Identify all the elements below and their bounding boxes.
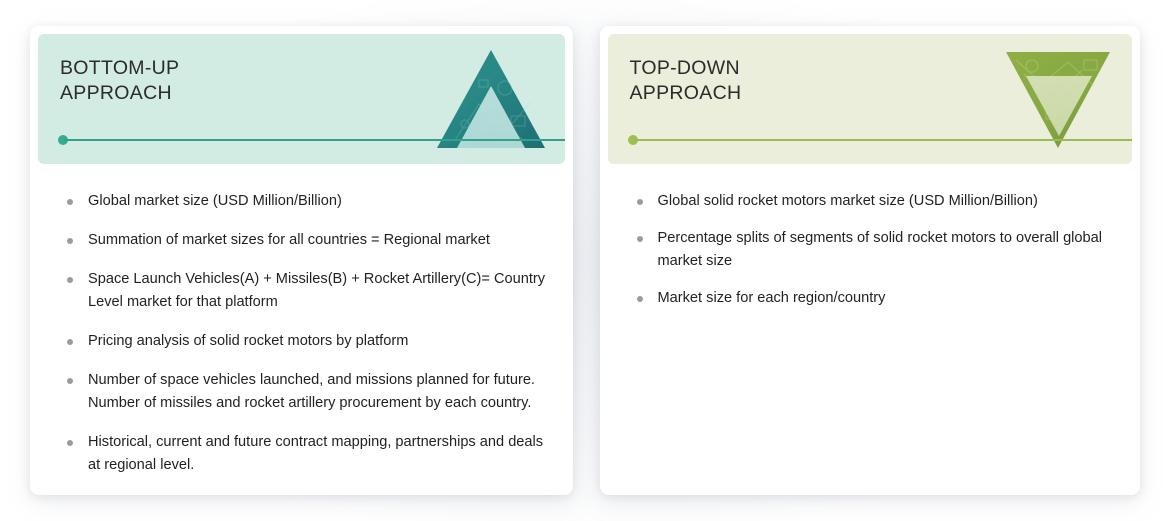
list-item-text: Market size for each region/country xyxy=(658,290,886,306)
page-title-top-down: TOP-DOWN APPROACH xyxy=(630,56,742,106)
list-item: Historical, current and future contract … xyxy=(56,431,547,477)
bullet-dot-icon xyxy=(67,440,73,446)
list-item-text: Summation of market sizes for all countr… xyxy=(88,232,490,248)
bullet-dot-icon xyxy=(637,199,643,205)
list-item: Space Launch Vehicles(A) + Missiles(B) +… xyxy=(56,268,547,314)
list-item: Number of space vehicles launched, and m… xyxy=(56,369,547,415)
list-item-text: Number of space vehicles launched, and m… xyxy=(88,372,535,411)
card-top-down-approach: TOP-DOWN APPROACH xyxy=(600,26,1141,495)
card-header-bottom-up: BOTTOM-UP APPROACH xyxy=(38,34,565,164)
bullet-dot-icon xyxy=(67,277,73,283)
bullet-list-top-down: Global solid rocket motors market size (… xyxy=(626,190,1115,310)
header-accent-rule-top-down xyxy=(628,135,1133,145)
list-item-text: Percentage splits of segments of solid r… xyxy=(658,230,1103,269)
bullet-dot-icon xyxy=(637,236,643,242)
list-item: Global solid rocket motors market size (… xyxy=(626,190,1115,213)
list-item: Summation of market sizes for all countr… xyxy=(56,229,547,252)
list-item-text: Global market size (USD Million/Billion) xyxy=(88,193,342,209)
card-body-top-down: Global solid rocket motors market size (… xyxy=(600,164,1141,495)
list-item: Pricing analysis of solid rocket motors … xyxy=(56,330,547,353)
list-item-text: Historical, current and future contract … xyxy=(88,434,543,473)
accent-line xyxy=(634,139,1133,141)
bullet-list-bottom-up: Global market size (USD Million/Billion)… xyxy=(56,190,547,477)
list-item-text: Pricing analysis of solid rocket motors … xyxy=(88,333,408,349)
bullet-dot-icon xyxy=(67,339,73,345)
card-bottom-up-approach: BOTTOM-UP APPROACH xyxy=(30,26,573,495)
list-item: Percentage splits of segments of solid r… xyxy=(626,227,1115,273)
bullet-dot-icon xyxy=(67,199,73,205)
card-header-top-down: TOP-DOWN APPROACH xyxy=(608,34,1133,164)
bullet-dot-icon xyxy=(637,296,643,302)
header-accent-rule-bottom-up xyxy=(58,135,565,145)
list-item: Global market size (USD Million/Billion) xyxy=(56,190,547,213)
bullet-dot-icon xyxy=(67,238,73,244)
page-title-bottom-up: BOTTOM-UP APPROACH xyxy=(60,56,179,106)
bullet-dot-icon xyxy=(67,378,73,384)
list-item-text: Global solid rocket motors market size (… xyxy=(658,193,1038,209)
list-item: Market size for each region/country xyxy=(626,287,1115,310)
card-body-bottom-up: Global market size (USD Million/Billion)… xyxy=(30,164,573,495)
accent-line xyxy=(64,139,565,141)
list-item-text: Space Launch Vehicles(A) + Missiles(B) +… xyxy=(88,271,545,310)
approach-comparison-board: BOTTOM-UP APPROACH xyxy=(0,0,1170,521)
